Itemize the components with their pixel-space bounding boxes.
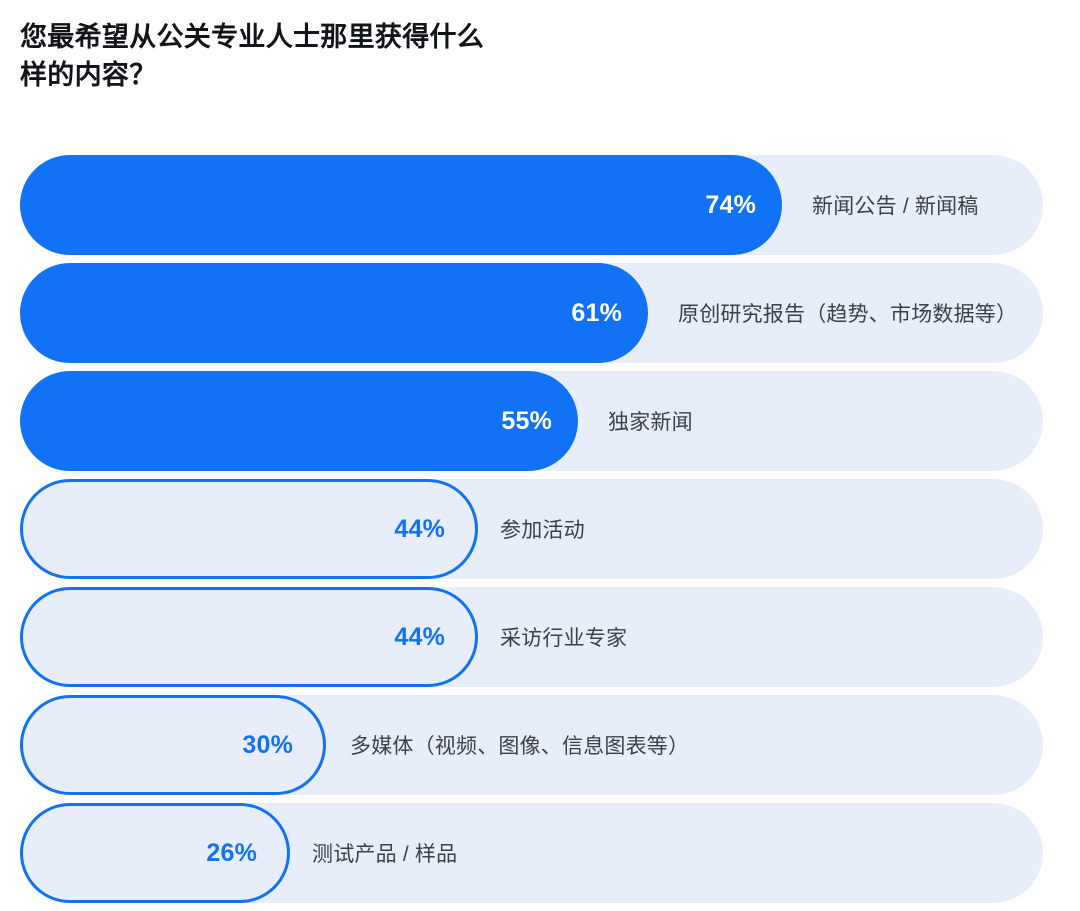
bar-value: 44% [394,623,475,652]
bar-row: 74% 新闻公告 / 新闻稿 [20,155,1043,255]
bar-label: 测试产品 / 样品 [312,803,457,903]
bar-row: 44% 采访行业专家 [20,587,1043,687]
bar-fill: 61% [20,263,648,363]
bar-row: 44% 参加活动 [20,479,1043,579]
bar-row: 55% 独家新闻 [20,371,1043,471]
bar-value: 74% [705,191,782,220]
bar-fill: 55% [20,371,578,471]
bar-fill: 74% [20,155,782,255]
bar-value: 55% [501,407,578,436]
bar-value: 30% [242,731,323,760]
bar-row: 26% 测试产品 / 样品 [20,803,1043,903]
bar-fill: 26% [20,803,290,903]
bar-list: 74% 新闻公告 / 新闻稿 61% 原创研究报告（趋势、市场数据等） 55% … [20,155,1043,911]
bar-label: 新闻公告 / 新闻稿 [812,155,979,255]
bar-value: 61% [571,299,648,328]
bar-fill: 44% [20,479,478,579]
bar-label: 参加活动 [500,479,585,579]
bar-fill: 30% [20,695,326,795]
bar-label: 多媒体（视频、图像、信息图表等） [350,695,689,795]
bar-label: 原创研究报告（趋势、市场数据等） [678,263,1017,363]
bar-value: 44% [394,515,475,544]
chart-title: 您最希望从公关专业人士那里获得什么 样的内容？ [20,18,740,95]
bar-row: 30% 多媒体（视频、图像、信息图表等） [20,695,1043,795]
bar-chart: 您最希望从公关专业人士那里获得什么 样的内容？ 74% 新闻公告 / 新闻稿 6… [0,0,1080,903]
bar-row: 61% 原创研究报告（趋势、市场数据等） [20,263,1043,363]
bar-value: 26% [206,839,287,868]
bar-label: 采访行业专家 [500,587,627,687]
bar-label: 独家新闻 [608,371,693,471]
bar-fill: 44% [20,587,478,687]
